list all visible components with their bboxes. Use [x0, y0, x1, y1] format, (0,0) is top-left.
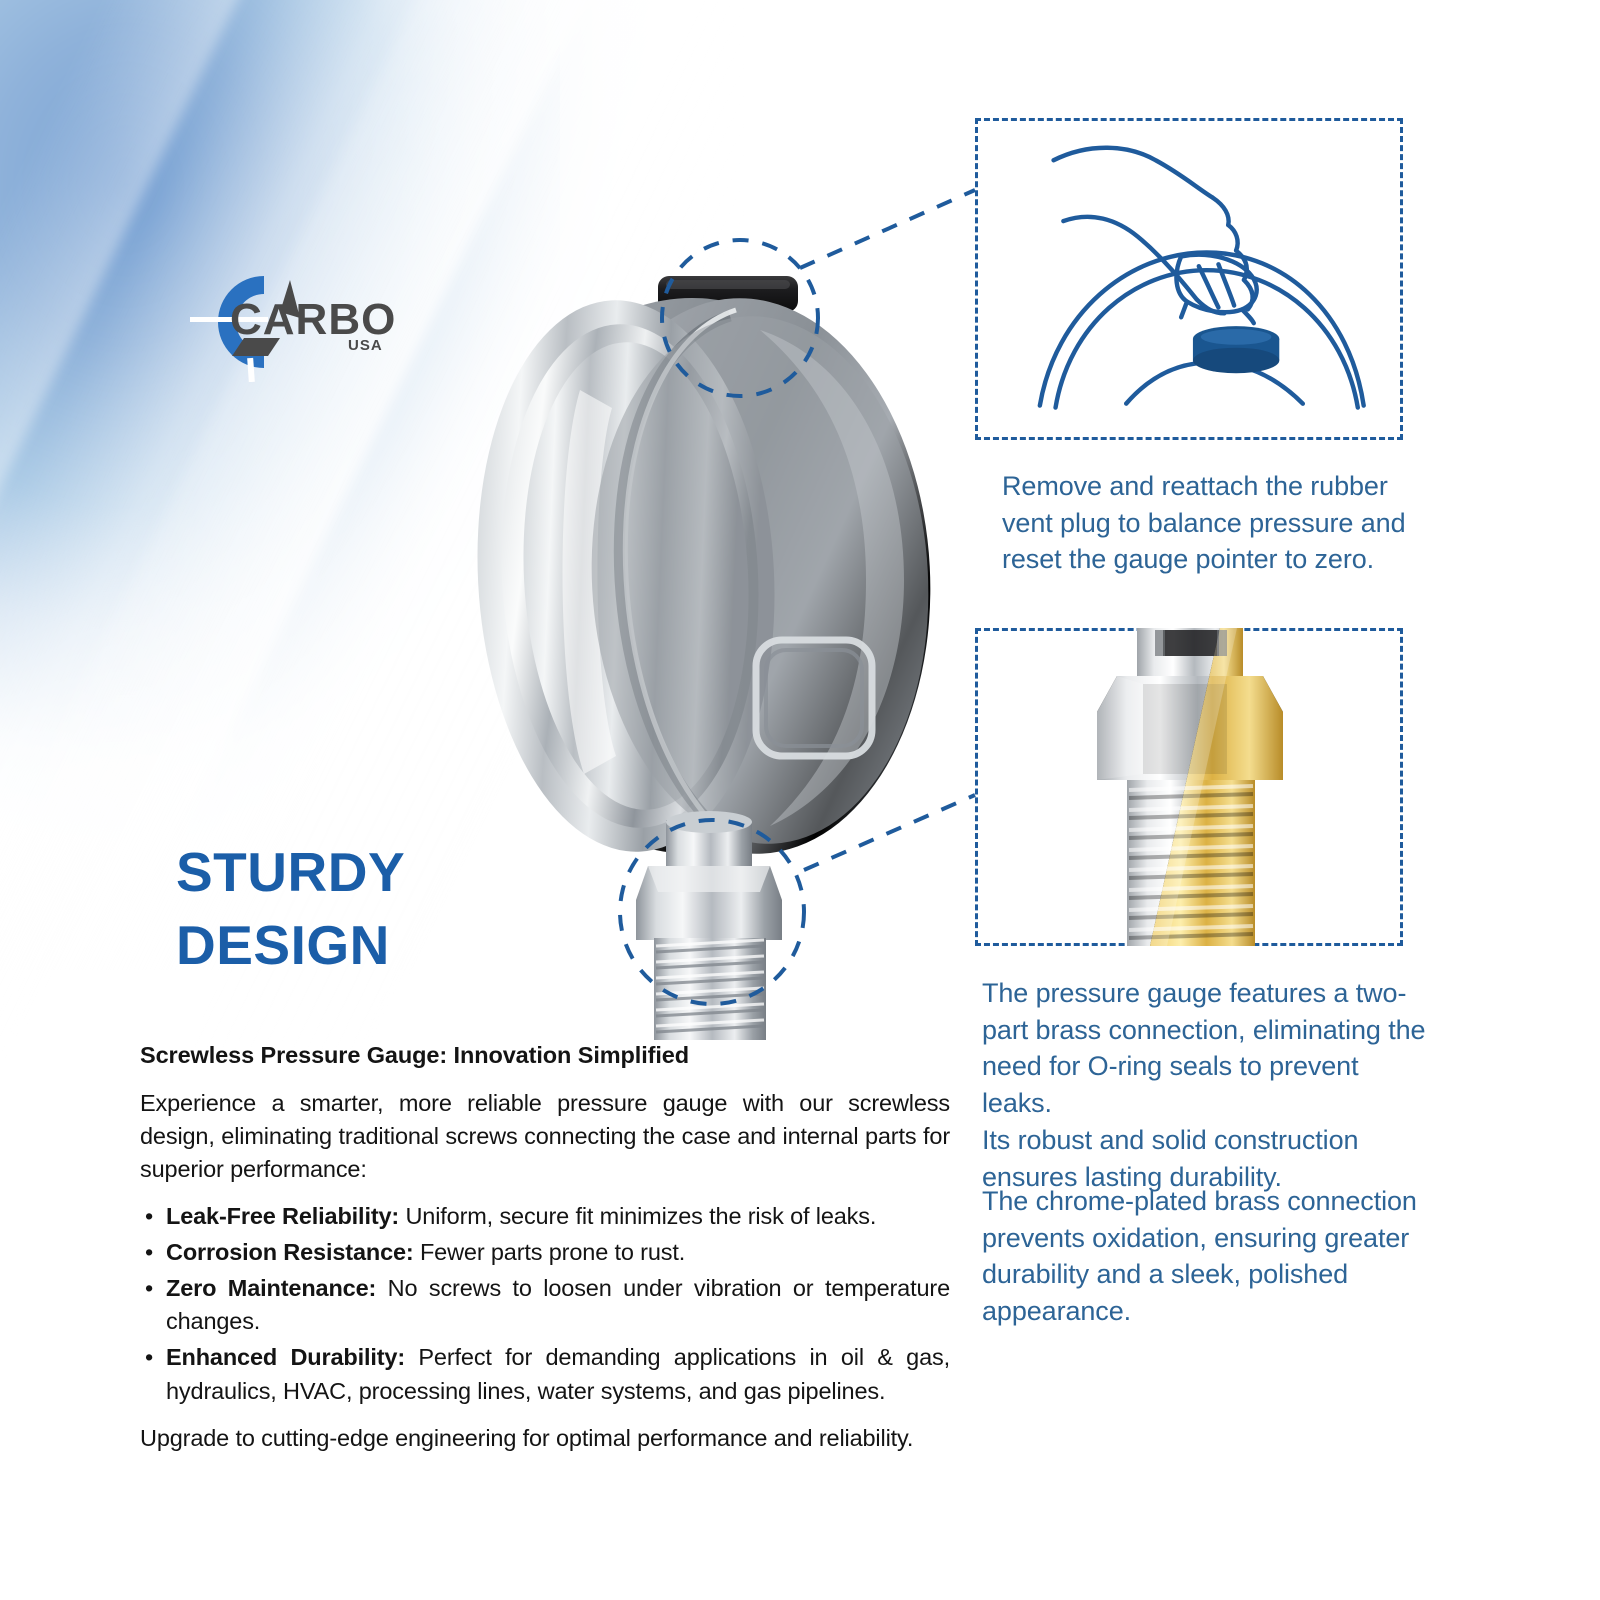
bullet-icon: •: [145, 1272, 153, 1305]
list-item-title: Corrosion Resistance:: [166, 1239, 414, 1265]
sub-heading: Screwless Pressure Gauge: Innovation Sim…: [140, 1040, 950, 1071]
list-item-title: Enhanced Durability:: [166, 1344, 405, 1370]
vent-plug-disc: [1193, 326, 1279, 373]
list-item: • Zero Maintenance: No screws to loosen …: [140, 1272, 950, 1338]
intro-paragraph: Experience a smarter, more reliable pres…: [140, 1087, 950, 1186]
headline-line-1: STURDY: [176, 836, 696, 909]
list-item-title: Leak-Free Reliability:: [166, 1203, 399, 1229]
list-item-text: Fewer parts prone to rust.: [414, 1239, 686, 1265]
chrome-brass-threaded-fitting: [1055, 628, 1325, 946]
brass-connection-caption: The pressure gauge features a two-part b…: [982, 975, 1432, 1195]
brass-caption-paragraph-1: The pressure gauge features a two-part b…: [982, 975, 1432, 1122]
vent-plug-diagram-panel: [975, 118, 1403, 440]
feature-list: • Leak-Free Reliability: Uniform, secure…: [140, 1200, 950, 1408]
logo-sub-wordmark: USA: [348, 337, 383, 354]
left-copy-block: Screwless Pressure Gauge: Innovation Sim…: [140, 1040, 950, 1455]
headline-line-2: DESIGN: [176, 909, 696, 982]
gauge-case: [464, 289, 945, 863]
chrome-plating-caption: The chrome-plated brass connection preve…: [982, 1183, 1432, 1330]
list-item: • Leak-Free Reliability: Uniform, secure…: [140, 1200, 950, 1233]
bullet-icon: •: [145, 1236, 153, 1269]
hand-removing-vent-plug-illustration: [978, 121, 1400, 437]
list-item: • Corrosion Resistance: Fewer parts pron…: [140, 1236, 950, 1269]
vent-plug-caption: Remove and reattach the rubber vent plug…: [1002, 468, 1432, 578]
bullet-icon: •: [145, 1341, 153, 1374]
closing-paragraph: Upgrade to cutting-edge engineering for …: [140, 1422, 950, 1455]
page-title: STURDY DESIGN: [176, 836, 696, 981]
list-item-text: Uniform, secure fit minimizes the risk o…: [399, 1203, 876, 1229]
list-item: • Enhanced Durability: Perfect for deman…: [140, 1341, 950, 1407]
carbo-logo: CARBO USA: [172, 262, 412, 382]
list-item-title: Zero Maintenance:: [166, 1275, 376, 1301]
bullet-icon: •: [145, 1200, 153, 1233]
